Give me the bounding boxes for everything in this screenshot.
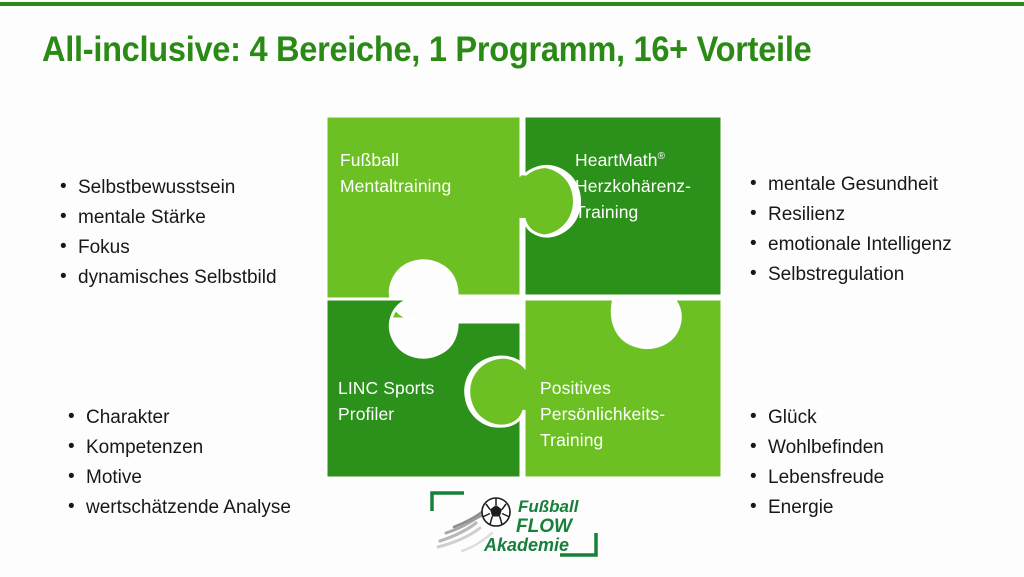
list-item: Fokus [58, 238, 277, 257]
puzzle-label-bottom-left-line1: LINC Sports [338, 378, 434, 398]
puzzle-label-top-right-line1: HeartMath® [575, 150, 665, 170]
puzzle-label-top-left-line1: Fußball [340, 150, 399, 170]
page-title: All-inclusive: 4 Bereiche, 1 Programm, 1… [42, 28, 916, 72]
logo-text-line1: Fußball [518, 497, 580, 516]
list-item: Wohlbefinden [748, 438, 884, 457]
slide-canvas: All-inclusive: 4 Bereiche, 1 Programm, 1… [0, 0, 1024, 577]
list-item: Selbstbewusstsein [58, 178, 277, 197]
benefits-list-top-left: Selbstbewusstsein mentale Stärke Fokus d… [58, 178, 277, 298]
benefits-list-top-right: mentale Gesundheit Resilienz emotionale … [748, 175, 952, 295]
puzzle-label-bottom-right-line1: Positives [540, 378, 611, 398]
list-item: wertschätzende Analyse [66, 498, 291, 517]
logo-text-line2: FLOW [516, 516, 574, 537]
puzzle-label-bottom-left: LINC Sports Profiler [338, 376, 488, 428]
list-item: mentale Stärke [58, 208, 277, 227]
puzzle-label-top-left-line2: Mentaltraining [340, 176, 451, 196]
logo-text-line3: Akademie [483, 535, 569, 555]
puzzle-label-bottom-right-line3: Training [540, 430, 603, 450]
list-item: Charakter [66, 408, 291, 427]
list-item: Kompetenzen [66, 438, 291, 457]
puzzle-label-top-right-line3: Training [575, 202, 638, 222]
list-item: Glück [748, 408, 884, 427]
top-accent-rule [0, 2, 1024, 6]
puzzle-label-bottom-left-line2: Profiler [338, 404, 394, 424]
brand-logo: Fußball FLOW Akademie [424, 489, 604, 561]
list-item: Lebensfreude [748, 468, 884, 487]
puzzle-label-bottom-right-line2: Persönlichkeits- [540, 404, 665, 424]
logo-bracket-top-left [432, 493, 464, 511]
list-item: mentale Gesundheit [748, 175, 952, 194]
list-item: Motive [66, 468, 291, 487]
list-item: Resilienz [748, 205, 952, 224]
puzzle-label-bottom-right: Positives Persönlichkeits- Training [540, 376, 715, 454]
list-item: dynamisches Selbstbild [58, 268, 277, 287]
benefits-list-bottom-left: Charakter Kompetenzen Motive wertschätze… [66, 408, 291, 528]
list-item: emotionale Intelligenz [748, 235, 952, 254]
puzzle-label-top-right-line2: Herzkohärenz- [575, 176, 691, 196]
puzzle-label-top-left: Fußball Mentaltraining [340, 148, 510, 200]
list-item: Selbstregulation [748, 265, 952, 284]
puzzle-label-top-right: HeartMath® Herzkohärenz- Training [575, 148, 725, 226]
soccer-ball-icon [482, 498, 510, 526]
benefits-list-bottom-right: Glück Wohlbefinden Lebensfreude Energie [748, 408, 884, 528]
list-item: Energie [748, 498, 884, 517]
